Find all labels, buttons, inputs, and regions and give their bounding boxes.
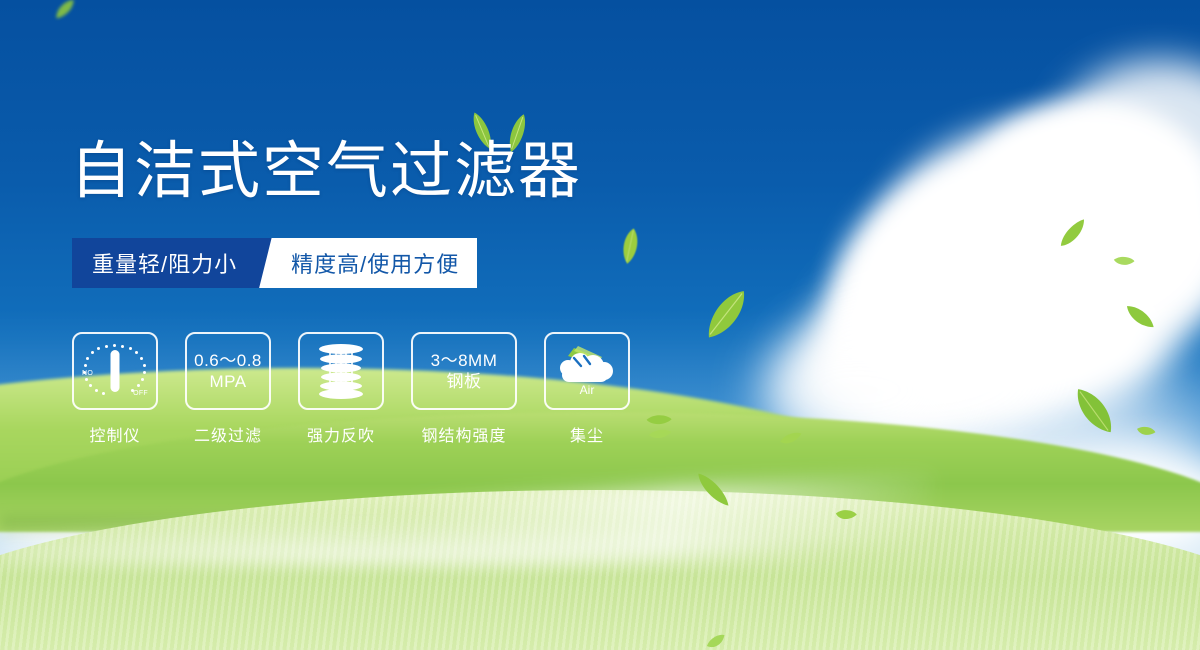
tagline-badge: 重量轻/阻力小 精度高/使用方便 bbox=[72, 238, 477, 288]
steel-thickness-text: 3～8MM bbox=[431, 350, 498, 371]
feature-list: NO OFF 控制仪 0.6～0.8 MPA 二级过滤 bbox=[72, 332, 630, 446]
page-title: 自洁式空气过滤器 bbox=[70, 141, 582, 203]
dial-needle bbox=[111, 350, 120, 392]
tagline-divider bbox=[259, 238, 285, 288]
feature-item-dust[interactable]: Air 集尘 bbox=[544, 332, 630, 446]
pressure-unit-text: MPA bbox=[209, 371, 246, 392]
banner-content: 自洁式空气过滤器 重量轻/阻力小 精度高/使用方便 bbox=[0, 0, 1200, 650]
feature-icon-box: 3～8MM 钢板 bbox=[411, 332, 517, 410]
control-dial-icon: NO OFF bbox=[83, 343, 147, 399]
feature-caption: 强力反吹 bbox=[307, 422, 375, 446]
feature-icon-box: NO OFF bbox=[72, 332, 158, 410]
feature-item-controller[interactable]: NO OFF 控制仪 bbox=[72, 332, 158, 446]
feature-item-backblow[interactable]: 强力反吹 bbox=[298, 332, 384, 446]
tagline-left: 重量轻/阻力小 bbox=[72, 238, 259, 288]
pressure-range-text: 0.6～0.8 bbox=[194, 350, 262, 371]
feature-icon-box bbox=[298, 332, 384, 410]
dial-label-on: NO bbox=[82, 370, 93, 377]
steel-material-text: 钢板 bbox=[447, 371, 482, 392]
air-cloud-icon: Air bbox=[554, 344, 620, 398]
tagline-right: 精度高/使用方便 bbox=[285, 238, 477, 288]
feature-item-filtration[interactable]: 0.6～0.8 MPA 二级过滤 bbox=[185, 332, 271, 446]
feature-caption: 钢结构强度 bbox=[421, 422, 506, 446]
feature-icon-box: 0.6～0.8 MPA bbox=[185, 332, 271, 410]
air-label: Air bbox=[580, 383, 595, 397]
filter-stack-icon bbox=[314, 342, 368, 400]
dial-label-off: OFF bbox=[133, 390, 148, 397]
feature-icon-box: Air bbox=[544, 332, 630, 410]
hero-banner: 自洁式空气过滤器 重量轻/阻力小 精度高/使用方便 bbox=[0, 0, 1200, 650]
feature-caption: 控制仪 bbox=[89, 422, 140, 446]
feature-item-steel[interactable]: 3～8MM 钢板 钢结构强度 bbox=[411, 332, 517, 446]
feature-caption: 二级过滤 bbox=[194, 422, 262, 446]
feature-caption: 集尘 bbox=[570, 422, 604, 446]
